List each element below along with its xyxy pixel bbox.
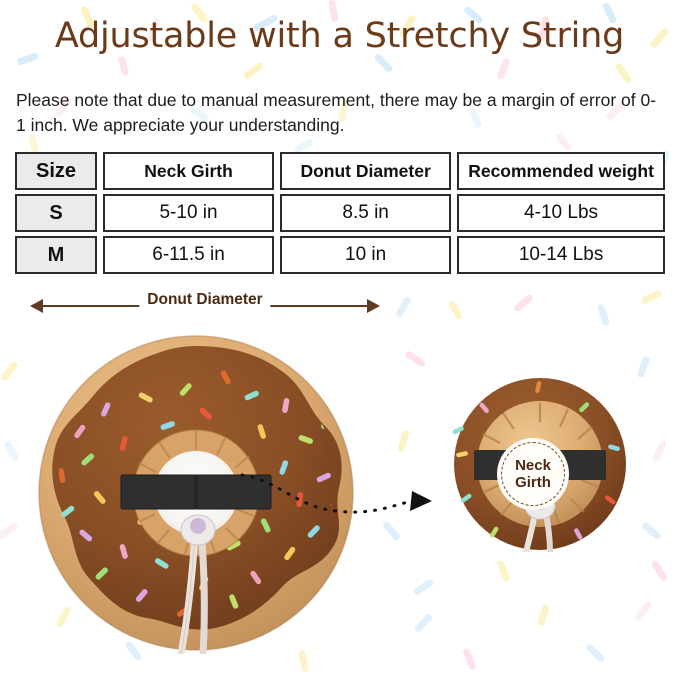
- background-sprinkle: [513, 293, 534, 313]
- cell-donut-diameter: 8.5 in: [280, 194, 451, 232]
- background-sprinkle: [640, 289, 663, 305]
- background-sprinkle: [0, 522, 18, 541]
- background-sprinkle: [447, 300, 463, 321]
- background-sprinkle: [404, 350, 426, 368]
- table-row: M 6-11.5 in 10 in 10-14 Lbs: [15, 236, 665, 274]
- neck-girth-callout: Neck Girth: [497, 438, 569, 510]
- callout-label: Neck Girth: [515, 457, 551, 491]
- cell-neck-girth: 5-10 in: [103, 194, 274, 232]
- background-sprinkle: [243, 61, 265, 80]
- arrow-right-icon: [367, 299, 380, 313]
- background-sprinkle: [636, 355, 650, 378]
- background-sprinkle: [641, 521, 662, 541]
- background-sprinkle: [537, 603, 550, 626]
- background-sprinkle: [614, 62, 632, 84]
- background-sprinkle: [651, 560, 669, 582]
- table-row: S 5-10 in 8.5 in 4-10 Lbs: [15, 194, 665, 232]
- background-sprinkle: [652, 440, 668, 463]
- background-sprinkle: [397, 429, 410, 452]
- background-sprinkle: [597, 303, 610, 326]
- background-sprinkle: [496, 559, 510, 582]
- cell-size: M: [15, 236, 97, 274]
- column-header-neck-girth: Neck Girth: [103, 152, 274, 190]
- cell-recommended-weight: 4-10 Lbs: [457, 194, 665, 232]
- cell-size: S: [15, 194, 97, 232]
- product-infographic: Adjustable with a Stretchy String Please…: [0, 0, 679, 679]
- background-sprinkle: [412, 578, 434, 596]
- connector-dotted-line: [242, 475, 412, 512]
- cell-donut-diameter: 10 in: [280, 236, 451, 274]
- size-chart-table: Size Neck Girth Donut Diameter Recommend…: [15, 152, 665, 274]
- page-title: Adjustable with a Stretchy String: [0, 16, 679, 56]
- measurement-note: Please note that due to manual measureme…: [16, 88, 664, 138]
- callout-connector-arrow: [240, 455, 440, 525]
- cell-neck-girth: 6-11.5 in: [103, 236, 274, 274]
- background-sprinkle: [496, 57, 511, 80]
- callout-label-line2: Girth: [515, 474, 551, 491]
- background-sprinkle: [117, 55, 129, 76]
- background-sprinkle: [0, 360, 19, 382]
- background-sprinkle: [395, 296, 412, 319]
- measure-label: Donut Diameter: [139, 291, 270, 309]
- background-sprinkle: [462, 647, 477, 670]
- arrow-left-icon: [30, 299, 43, 313]
- donut-diameter-measure: Donut Diameter: [30, 294, 380, 318]
- column-header-donut-diameter: Donut Diameter: [280, 152, 451, 190]
- cell-recommended-weight: 10-14 Lbs: [457, 236, 665, 274]
- column-header-size: Size: [15, 152, 97, 190]
- table-header-row: Size Neck Girth Donut Diameter Recommend…: [15, 152, 665, 190]
- column-header-recommended-weight: Recommended weight: [457, 152, 665, 190]
- connector-arrowhead-icon: [410, 491, 432, 511]
- background-sprinkle: [634, 600, 653, 622]
- callout-label-line1: Neck: [515, 457, 551, 474]
- background-sprinkle: [3, 440, 20, 463]
- background-sprinkle: [585, 643, 606, 663]
- background-sprinkle: [414, 612, 434, 633]
